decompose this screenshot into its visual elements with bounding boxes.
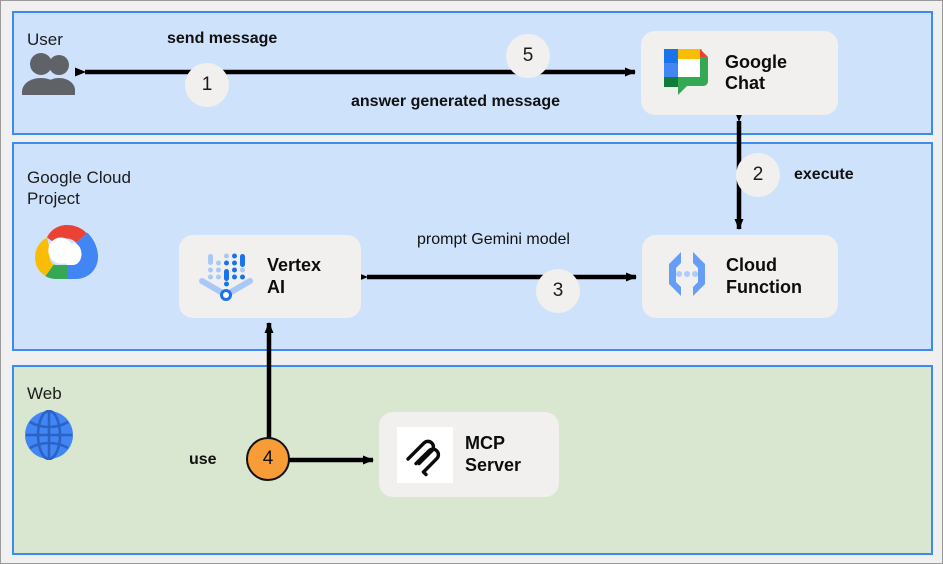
card-label-vertex-ai: Vertex AI <box>267 255 321 297</box>
card-label-cloud-function: Cloud Function <box>726 255 802 297</box>
step-badge-3: 3 <box>536 269 580 313</box>
edge-label-use: use <box>189 451 217 469</box>
mcp-icon <box>397 427 453 483</box>
edge-label-answer-generated-message: answer generated message <box>351 93 560 111</box>
edge-label-prompt-gemini-model: prompt Gemini model <box>417 231 570 249</box>
card-vertex-ai[interactable]: Vertex AI <box>179 235 361 318</box>
card-label-mcp-server: MCP Server <box>465 433 521 475</box>
step-badge-4: 4 <box>246 437 290 481</box>
cloud-function-icon <box>660 247 714 306</box>
card-label-google-chat: Google Chat <box>725 52 787 94</box>
card-cloud-function[interactable]: Cloud Function <box>642 235 838 318</box>
card-mcp-server[interactable]: MCP Server <box>379 412 559 497</box>
vertex-ai-icon <box>197 245 255 308</box>
step-badge-2: 2 <box>736 153 780 197</box>
card-google-chat[interactable]: Google Chat <box>641 31 838 115</box>
google-chat-icon <box>659 44 713 103</box>
edge-label-execute: execute <box>794 166 854 184</box>
architecture-diagram: User Google Cloud Project Web <box>0 0 943 564</box>
step-badge-5: 5 <box>506 34 550 78</box>
step-badge-1: 1 <box>185 63 229 107</box>
edge-label-send-message: send message <box>167 30 277 48</box>
